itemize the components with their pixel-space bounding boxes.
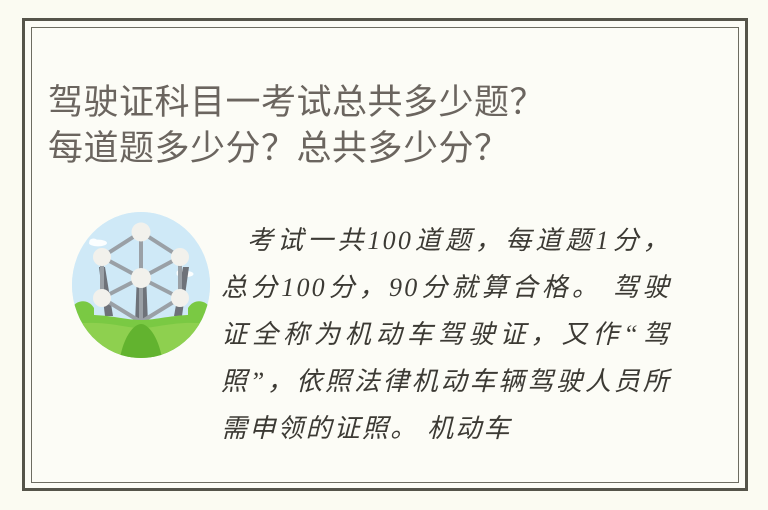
illustration-container: [72, 212, 210, 358]
article-body: 考试一共100道题，每道题1分，总分100分，90分就算合格。 驾驶证全称为机动…: [221, 217, 671, 452]
article-content: 驾驶证科目一考试总共多少题？ 每道题多少分？总共多少分？: [31, 27, 739, 483]
atomium-landmark-icon: [72, 212, 210, 358]
page-title: 驾驶证科目一考试总共多少题？ 每道题多少分？总共多少分？: [48, 80, 708, 172]
page-root: 驾驶证科目一考试总共多少题？ 每道题多少分？总共多少分？: [0, 0, 768, 510]
